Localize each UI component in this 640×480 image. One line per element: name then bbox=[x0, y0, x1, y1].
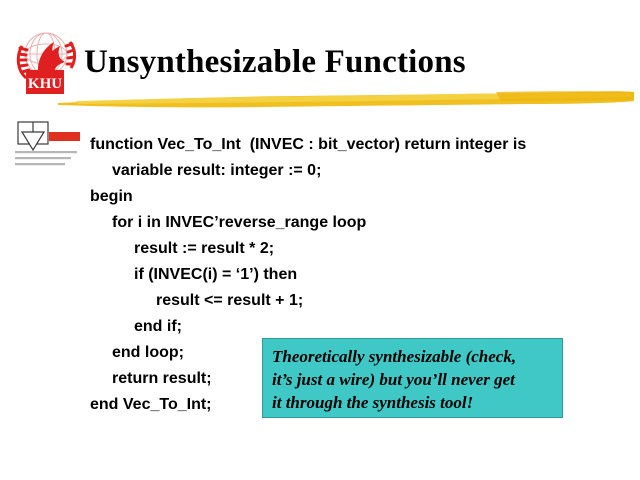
page-title: Unsynthesizable Functions bbox=[84, 42, 604, 82]
code-line: if (INVEC(i) = ‘1’) then bbox=[90, 262, 590, 288]
code-line: end if; bbox=[90, 314, 590, 340]
callout-box: Theoretically synthesizable (check, it’s… bbox=[262, 338, 563, 418]
gold-brush-divider bbox=[56, 88, 636, 110]
slide-canvas: KHU Unsynthesizable Functions bbox=[0, 0, 640, 480]
code-line: result <= result + 1; bbox=[90, 288, 590, 314]
callout-line: Theoretically synthesizable (check, bbox=[272, 345, 553, 368]
code-line: for i in INVEC’reverse_range loop bbox=[90, 210, 590, 236]
lab-logo-icon bbox=[12, 120, 86, 176]
code-line: variable result: integer := 0; bbox=[90, 158, 590, 184]
code-line: result := result * 2; bbox=[90, 236, 590, 262]
callout-line: it through the synthesis tool! bbox=[272, 391, 553, 414]
lab-logo bbox=[12, 120, 86, 176]
code-line: function Vec_To_Int (INVEC : bit_vector)… bbox=[90, 132, 590, 158]
callout-line: it’s just a wire) but you’ll never get bbox=[272, 368, 553, 391]
code-line: begin bbox=[90, 184, 590, 210]
gold-brush-stroke-icon bbox=[56, 88, 636, 110]
